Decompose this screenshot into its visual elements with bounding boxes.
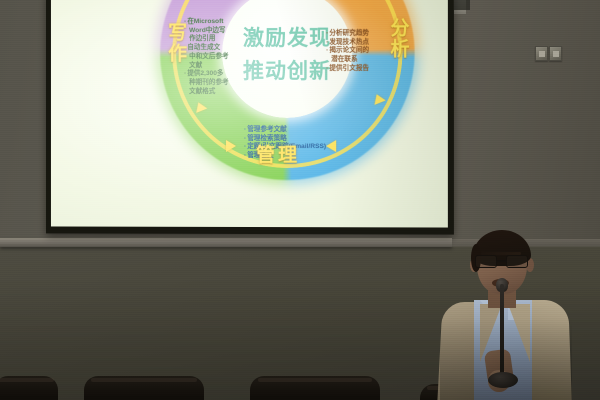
center-line-1: 激励发现 bbox=[243, 21, 331, 51]
chair-3 bbox=[250, 376, 380, 400]
list-item-cont: 种期刊的参考 bbox=[184, 79, 228, 88]
presenter bbox=[436, 222, 576, 400]
list-item: 管理参考文献 bbox=[244, 126, 326, 135]
photo-scene: 激励发现 推动创新 写作 分析 管理 100年科技文献与引文 3,10 bbox=[0, 0, 600, 400]
list-item: 在Microsoft bbox=[184, 18, 228, 27]
projection-screen: 激励发现 推动创新 写作 分析 管理 100年科技文献与引文 3,10 bbox=[46, 0, 454, 235]
list-item: 提供2,300多 bbox=[184, 70, 228, 79]
quadrant-label-write: 写作 bbox=[166, 22, 185, 64]
glasses-icon bbox=[473, 255, 531, 268]
microphone-base[interactable] bbox=[488, 372, 518, 388]
wall-plate-left-icon[interactable] bbox=[535, 46, 548, 61]
wall-rail bbox=[0, 238, 452, 247]
quadrant-label-analyze: 分析 bbox=[388, 18, 407, 60]
bullets-write: 在Microsoft Word中边写 作边引用 自动生成文 中和文后参考 文献 … bbox=[184, 18, 228, 96]
projected-slide: 激励发现 推动创新 写作 分析 管理 100年科技文献与引文 3,10 bbox=[51, 0, 448, 228]
chair-2 bbox=[84, 376, 204, 400]
list-item: 分析研究趋势 bbox=[326, 30, 369, 39]
bullets-analyze: 分析研究趋势 发现技术热点 揭示论文间的 潜在联系 提供引文报告 bbox=[326, 30, 369, 74]
arrow-bottom-left-icon bbox=[226, 140, 236, 152]
microphone-stem[interactable] bbox=[500, 284, 504, 378]
list-item-cont: 文献 bbox=[184, 62, 228, 71]
quadrant-label-manage: 管理 bbox=[256, 146, 300, 165]
list-item-cont: 中和文后参考 bbox=[184, 53, 228, 62]
list-item: 提供引文报告 bbox=[326, 65, 369, 74]
ceiling-fixture bbox=[454, 0, 470, 10]
cycle-diagram: 激励发现 推动创新 写作 分析 管理 100年科技文献与引文 3,10 bbox=[160, 0, 414, 180]
list-item: 揭示论文间的 bbox=[326, 47, 369, 56]
wall-plate-right-icon[interactable] bbox=[549, 46, 562, 61]
list-item-cont: 文献格式 bbox=[184, 88, 228, 97]
center-line-2: 推动创新 bbox=[243, 54, 331, 84]
chair-1 bbox=[0, 376, 58, 400]
list-item-cont: 作边引用 bbox=[184, 35, 228, 44]
list-item: 自动生成文 bbox=[184, 44, 228, 53]
list-item-cont: 潜在联系 bbox=[326, 56, 369, 65]
arrow-bottom-right-icon bbox=[326, 140, 336, 152]
